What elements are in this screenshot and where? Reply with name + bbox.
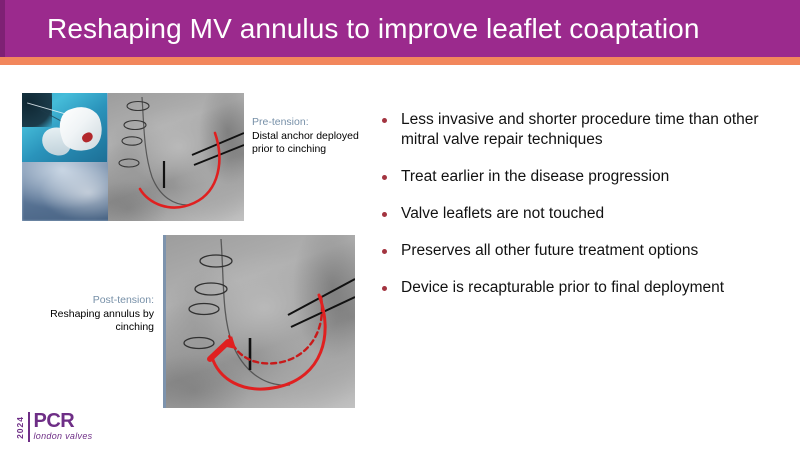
logo-year: 2024	[16, 416, 25, 439]
anchor-coil-3	[122, 137, 142, 145]
anchor-coil-4	[119, 159, 139, 167]
slide-title-bar: Reshaping MV annulus to improve leaflet …	[0, 0, 800, 57]
fluoroscopy-image-pre-tension	[108, 93, 244, 221]
fluoroscopy-annotations-post	[166, 235, 355, 408]
caption-pre-label: Pre-tension:	[252, 116, 370, 130]
pcr-london-valves-logo: 2024 PCR london valves	[16, 410, 92, 444]
bullet-dot-icon	[382, 175, 387, 180]
anchor-coil-2	[195, 283, 227, 295]
bullet-dot-icon	[382, 118, 387, 123]
anchor-coil-1	[127, 102, 149, 111]
annulus-arc-dashed-original	[229, 297, 322, 363]
title-accent-bar	[0, 57, 800, 65]
bullet-dot-icon	[382, 249, 387, 254]
bullet-text: Treat earlier in the disease progression	[401, 167, 782, 187]
page-title: Reshaping MV annulus to improve leaflet …	[47, 0, 780, 57]
caption-post-label: Post-tension:	[28, 294, 154, 308]
cinching-direction-arrow	[210, 336, 236, 359]
anchor-coil-3	[189, 304, 219, 315]
figure-post-tension	[163, 235, 355, 408]
catheter-shaft	[142, 97, 188, 205]
logo-divider	[28, 412, 30, 442]
title-edge-strip	[0, 0, 5, 57]
surgical-photo-inset	[22, 93, 107, 162]
bullet-dot-icon	[382, 212, 387, 217]
logo-subtitle: london valves	[34, 431, 93, 442]
bullet-text: Less invasive and shorter procedure time…	[401, 110, 782, 150]
caption-post-tension: Post-tension: Reshaping annulus by cinch…	[28, 294, 154, 335]
bullet-text: Valve leaflets are not touched	[401, 204, 782, 224]
logo-wordmark: PCR london valves	[34, 412, 93, 442]
fluoroscopy-annotations-pre	[108, 93, 244, 221]
bullet-text: Preserves all other future treatment opt…	[401, 241, 782, 261]
bullet-text: Device is recapturable prior to final de…	[401, 278, 782, 298]
anchor-coil-4	[184, 338, 214, 349]
logo-brand: PCR	[34, 412, 93, 431]
bullet-dot-icon	[382, 286, 387, 291]
caption-pre-body: Distal anchor deployed prior to cinching	[252, 130, 370, 157]
bullet-list: Less invasive and shorter procedure time…	[382, 110, 782, 315]
photo-dark-corner	[22, 93, 52, 127]
list-item: Preserves all other future treatment opt…	[382, 241, 782, 261]
list-item: Valve leaflets are not touched	[382, 204, 782, 224]
list-item: Less invasive and shorter procedure time…	[382, 110, 782, 150]
caption-post-body: Reshaping annulus by cinching	[28, 308, 154, 335]
anchor-coil-1	[200, 255, 232, 267]
list-item: Treat earlier in the disease progression	[382, 167, 782, 187]
anchor-coil-2	[124, 121, 146, 130]
caption-pre-tension: Pre-tension: Distal anchor deployed prio…	[252, 116, 370, 157]
figure-pre-tension	[22, 93, 244, 221]
annulus-arc-red	[140, 133, 219, 207]
list-item: Device is recapturable prior to final de…	[382, 278, 782, 298]
